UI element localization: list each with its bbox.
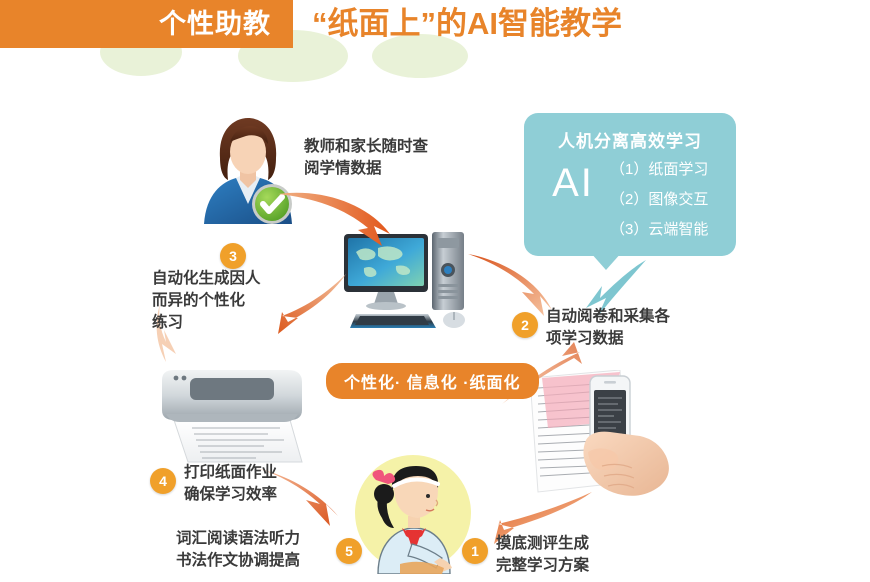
center-pill-label: 个性化· 信息化 ·纸面化: [326, 363, 539, 399]
header-banner: 个性助教: [0, 0, 293, 48]
arrow-teacher-to-computer: [272, 178, 402, 258]
inkjet-printer: [152, 358, 312, 466]
ai-panel-item-1: （1）纸面学习: [610, 155, 730, 185]
step-3-text: 自动化生成因人 而异的个性化 练习: [152, 268, 261, 334]
student-girl: [352, 452, 474, 574]
step-2-text: 自动阅卷和采集各 项学习数据: [546, 306, 670, 350]
step-4-badge: 4: [150, 468, 176, 494]
ai-panel: 人机分离高效学习 AI （1）纸面学习 （2）图像交互 （3）云端智能: [524, 113, 736, 256]
step-1-badge: 1: [462, 538, 488, 564]
ai-panel-heading: 人机分离高效学习: [524, 127, 736, 152]
ai-panel-list: （1）纸面学习 （2）图像交互 （3）云端智能: [610, 155, 730, 245]
ai-panel-glyph: AI: [538, 161, 608, 206]
step-2-badge: 2: [512, 312, 538, 338]
teacher-note-text: 教师和家长随时查 阅学情数据: [304, 136, 428, 180]
step-4-text: 打印纸面作业 确保学习效率: [184, 462, 277, 506]
header-banner-label: 个性助教: [159, 11, 271, 38]
step-5-text: 词汇阅读语法听力 书法作文协调提高: [176, 528, 300, 572]
step-1-text: 摸底测评生成 完整学习方案: [496, 533, 589, 577]
ai-panel-item-3: （3）云端智能: [610, 215, 730, 245]
step-3-badge: 3: [220, 243, 246, 269]
page-title: “纸面上”的AI智能教学: [312, 2, 622, 46]
ai-panel-item-2: （2）图像交互: [610, 185, 730, 215]
step-5-badge: 5: [336, 538, 362, 564]
infographic-canvas: 个性助教 “纸面上”的AI智能教学: [0, 0, 870, 582]
